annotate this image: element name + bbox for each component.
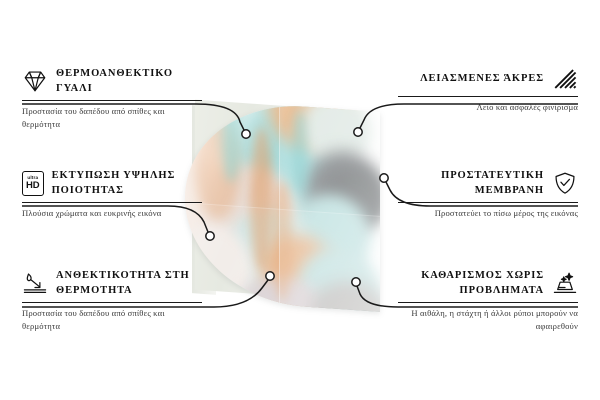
feature-easy-cleaning: ΚΑΘΑΡΙΣΜΟΣ ΧΩΡΙΣ ΠΡΟΒΛΗΜΑΤΑ Η αιθάλη, η … xyxy=(398,268,578,333)
feature-title: ΚΑΘΑΡΙΣΜΟΣ ΧΩΡΙΣ ΠΡΟΒΛΗΜΑΤΑ xyxy=(398,268,544,298)
polished-edge-icon xyxy=(552,66,578,92)
feature-title: ΛΕΙΑΣΜΕΝΕΣ ΆΚΡΕΣ xyxy=(420,71,544,86)
hotspot-dot-bottom-right[interactable] xyxy=(352,278,360,286)
feature-title: ΠΡΟΣΤΑΤΕΥΤΙΚΗ ΜΕΜΒΡΑΝΗ xyxy=(398,168,544,198)
ultra-hd-icon-large-text: HD xyxy=(26,181,40,191)
feature-title: ΘΕΡΜΟΑΝΘΕΚΤΙΚΟ ΓΥΑΛΙ xyxy=(56,66,202,96)
feature-heat-resistant-glass: ΘΕΡΜΟΑΝΘΕΚΤΙΚΟ ΓΥΑΛΙ Προστασία του δαπέδ… xyxy=(22,66,202,131)
hotspot-dot-middle-left[interactable] xyxy=(206,232,214,240)
feature-heat-durability: ΑΝΘΕΚΤΙΚΟΤΗΤΑ ΣΤΗ ΘΕΡΜΟΤΗΤΑ Προστασία το… xyxy=(22,268,202,333)
hotspot-dot-top-right[interactable] xyxy=(354,128,362,136)
feature-rule xyxy=(22,100,202,101)
sparkle-clean-icon xyxy=(552,270,578,296)
feature-rule xyxy=(22,202,202,203)
hotspot-dot-top-left[interactable] xyxy=(242,130,250,138)
ultra-hd-icon: ultra HD xyxy=(22,171,44,196)
feature-description: Πλούσια χρώματα και ευκρινής εικόνα xyxy=(22,207,202,220)
feature-title: ΑΝΘΕΚΤΙΚΟΤΗΤΑ ΣΤΗ ΘΕΡΜΟΤΗΤΑ xyxy=(56,268,202,298)
infographic-canvas: ΘΕΡΜΟΑΝΘΕΚΤΙΚΟ ΓΥΑΛΙ Προστασία του δαπέδ… xyxy=(0,0,600,400)
hotspot-dot-bottom-left[interactable] xyxy=(266,272,274,280)
feature-description: Προστασία του δαπέδου από σπίθες και θερ… xyxy=(22,307,202,333)
shield-check-icon xyxy=(552,170,578,196)
feature-rule xyxy=(398,202,578,203)
feature-title: ΕΚΤΥΠΩΣΗ ΥΨΗΛΗΣ ΠΟΙΟΤΗΤΑΣ xyxy=(52,168,202,198)
feature-high-quality-print: ultra HD ΕΚΤΥΠΩΣΗ ΥΨΗΛΗΣ ΠΟΙΟΤΗΤΑΣ Πλούσ… xyxy=(22,168,202,220)
feature-protective-membrane: ΠΡΟΣΤΑΤΕΥΤΙΚΗ ΜΕΜΒΡΑΝΗ Προστατεύει το πί… xyxy=(398,168,578,220)
flame-deflect-icon xyxy=(22,270,48,296)
feature-rule xyxy=(398,96,578,97)
hotspot-dot-middle-right[interactable] xyxy=(380,174,388,182)
feature-description: Προστατεύει το πίσω μέρος της εικόνας xyxy=(398,207,578,220)
feature-polished-edges: ΛΕΙΑΣΜΕΝΕΣ ΆΚΡΕΣ Λείο και ασφαλές φινίρι… xyxy=(398,66,578,114)
feature-rule xyxy=(398,302,578,303)
feature-description: Προστασία του δαπέδου από σπίθες και θερ… xyxy=(22,105,202,131)
diamond-icon xyxy=(22,68,48,94)
feature-description: Η αιθάλη, η στάχτη ή άλλοι ρύποι μπορούν… xyxy=(398,307,578,333)
feature-rule xyxy=(22,302,202,303)
feature-description: Λείο και ασφαλές φινίρισμα xyxy=(398,101,578,114)
